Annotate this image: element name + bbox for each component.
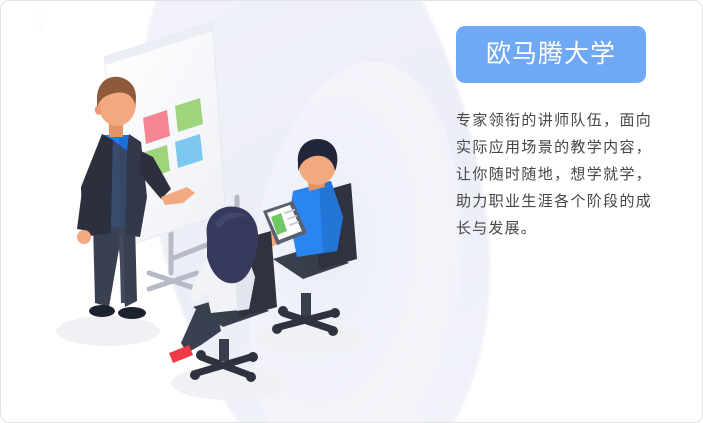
content-column: 欧马腾大学 专家领衔的讲师队伍，面向实际应用场景的教学内容，让你随时随地，想学就… (456, 26, 656, 257)
brand-badge-label: 欧马腾大学 (486, 39, 616, 68)
presenter-shoe-right (118, 307, 146, 319)
presenter-ear (95, 105, 101, 115)
presenter-hand-left (77, 230, 91, 244)
brand-badge[interactable]: 欧马腾大学 (456, 26, 646, 83)
presenter-shoe-left (89, 305, 115, 317)
training-illustration (1, 1, 421, 423)
presenter-jacket-collar (111, 140, 127, 235)
promo-card: 欧马腾 (0, 0, 703, 423)
shadow-presenter (56, 316, 160, 346)
seated-woman (169, 207, 277, 382)
description-paragraph: 专家领衔的讲师队伍，面向实际应用场景的教学内容，让你随时随地，想学就学，助力职业… (456, 107, 652, 242)
seated-man-with-tablet (263, 139, 357, 336)
seated-woman-shoe (169, 345, 193, 363)
